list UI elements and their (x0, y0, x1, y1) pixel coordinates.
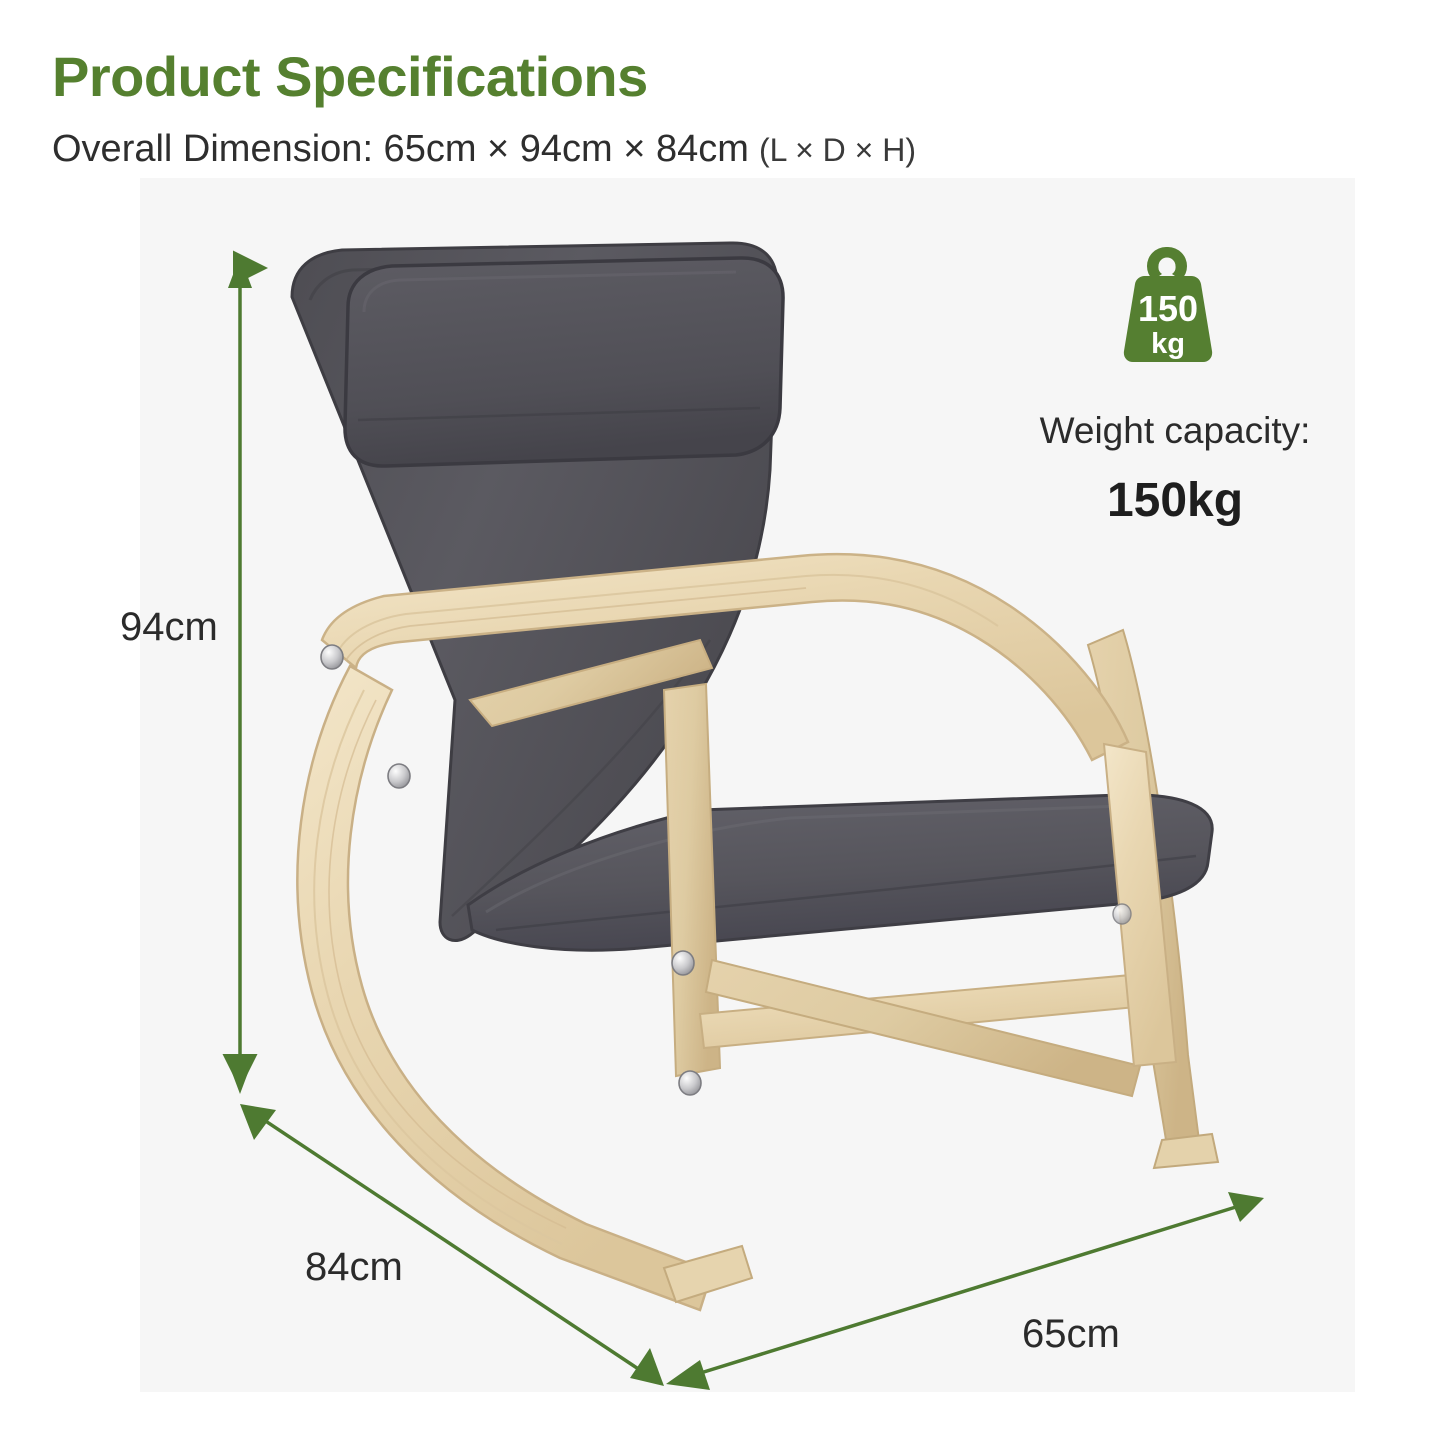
width-dimension-label: 65cm (1022, 1312, 1120, 1357)
rear-foot (1154, 1134, 1218, 1168)
screw (321, 645, 343, 669)
weight-badge-unit: kg (1151, 328, 1185, 360)
weight-capacity-value: 150kg (1010, 473, 1340, 528)
screw (679, 1071, 701, 1095)
screw (672, 951, 694, 975)
weight-handle-icon (1147, 247, 1187, 280)
screw (388, 764, 410, 788)
height-dimension-label: 94cm (120, 605, 218, 650)
weight-badge-value: 150 (1138, 288, 1198, 329)
headrest-pillow (345, 258, 783, 466)
rocking-chair-illustration (0, 0, 1445, 1445)
weight-capacity-caption: Weight capacity: (1010, 410, 1340, 452)
left-foot (664, 1246, 752, 1302)
weight-capacity-icon: 150 kg (1108, 243, 1228, 368)
depth-dimension-label: 84cm (305, 1245, 403, 1290)
screw (1113, 904, 1131, 924)
